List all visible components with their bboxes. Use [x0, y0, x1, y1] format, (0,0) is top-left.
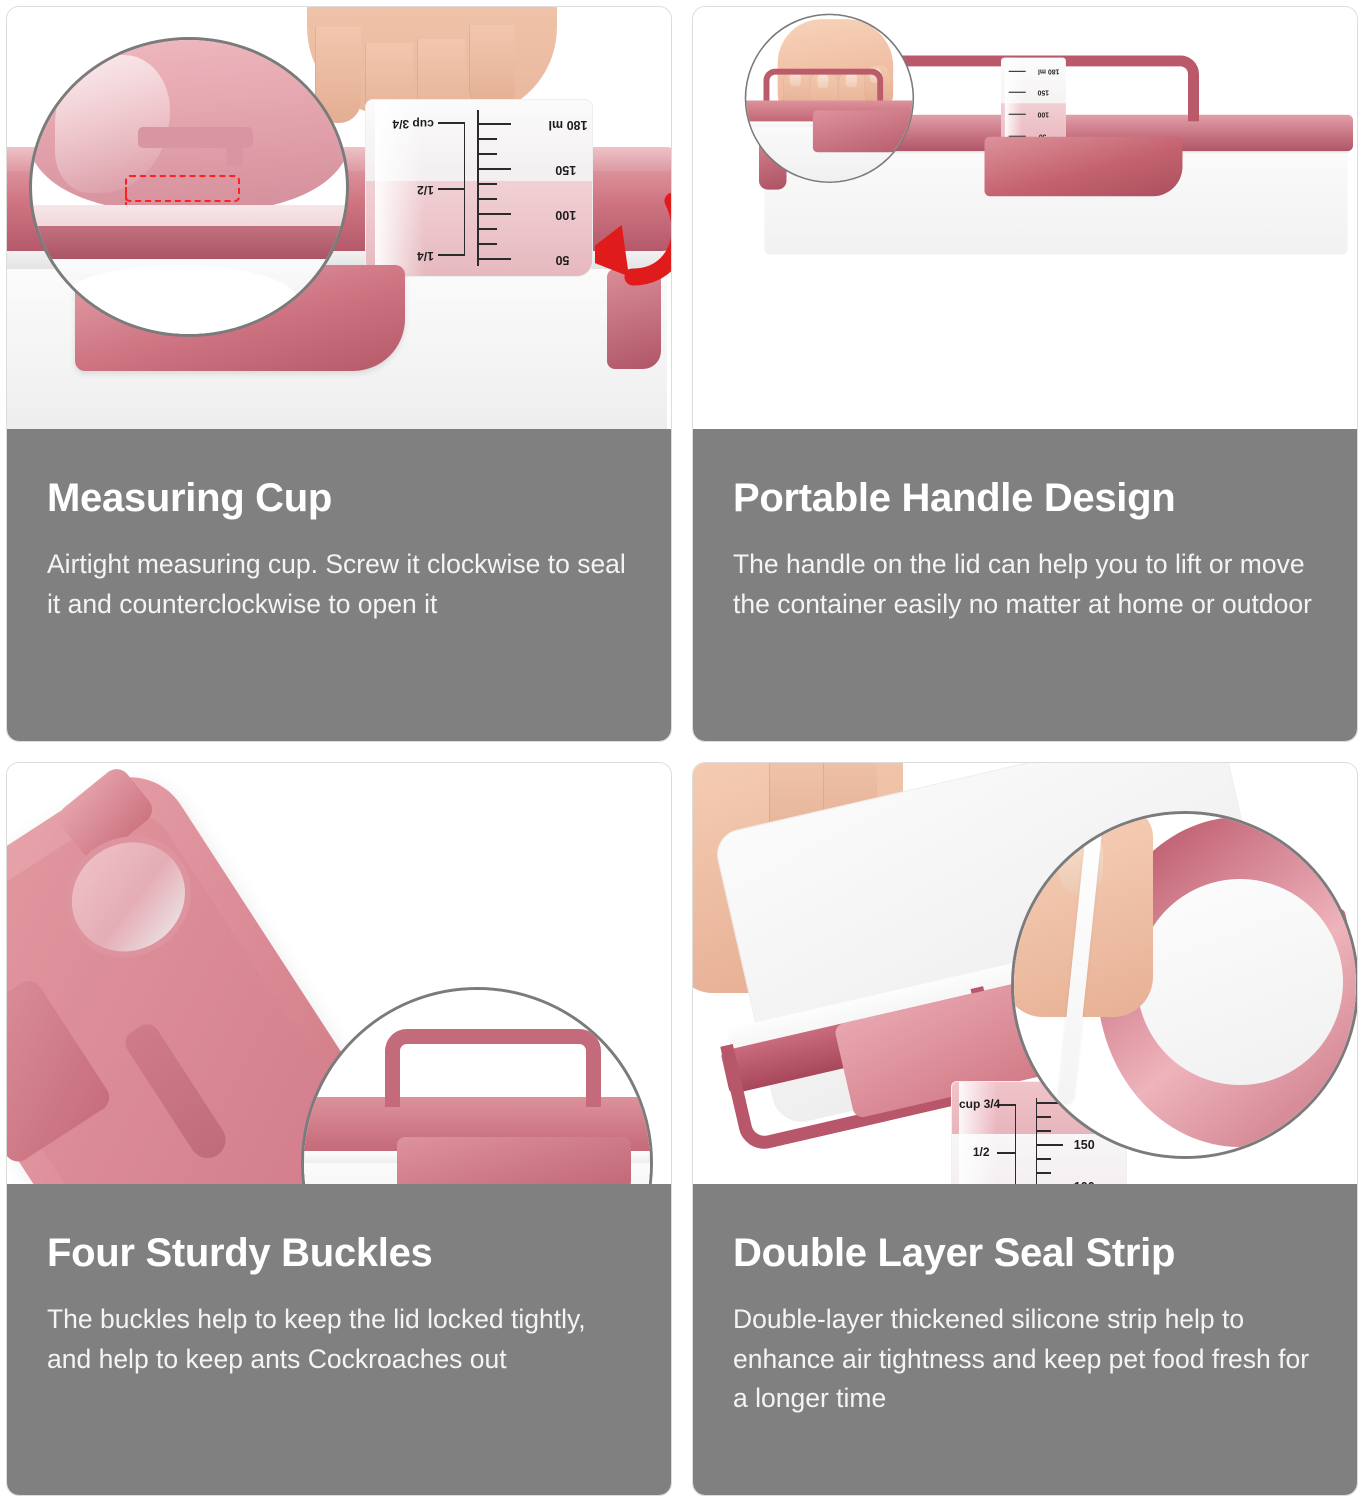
feature-card-measuring-cup: 50 100 150 180 ml 1/4 1/2 cup 3/4 [6, 6, 672, 742]
card-body: Airtight measuring cup. Screw it clockwi… [47, 545, 631, 625]
magnifier-content [301, 987, 653, 1184]
magnifier-content [745, 14, 914, 183]
measuring-cup-illustration: 50 100 150 180 ml 1/4 1/2 cup 3/4 [7, 7, 671, 429]
card-body: The buckles help to keep the lid locked … [47, 1300, 631, 1380]
magnifier-content [29, 37, 349, 337]
cup-fraction-bracket [464, 124, 465, 256]
product-photo-measuring-cup: 50 100 150 180 ml 1/4 1/2 cup 3/4 [7, 7, 671, 429]
product-photo-double-seal-strip: 180 ml 150 100 50 cup 3/4 1/2 1/4 [693, 763, 1357, 1184]
cup-fraction-label: 1/4 [417, 249, 434, 263]
lid-inner-face [1137, 879, 1343, 1085]
buckle-closeup [813, 110, 912, 152]
caption-measuring-cup: Measuring Cup Airtight measuring cup. Sc… [7, 429, 671, 741]
cup-ml-label: 100 [1074, 1180, 1095, 1184]
card-title: Four Sturdy Buckles [47, 1232, 631, 1274]
carry-handle [385, 1029, 601, 1107]
caption-portable-handle: Portable Handle Design The handle on the… [693, 429, 1357, 741]
grid-cell-measuring-cup: 50 100 150 180 ml 1/4 1/2 cup 3/4 [0, 0, 680, 750]
magnifier-seal-strip [1011, 811, 1357, 1159]
card-body: The handle on the lid can help you to li… [733, 545, 1317, 625]
cup-ml-label: 100 [1038, 111, 1049, 119]
cup-fraction-label: 1/2 [973, 1145, 990, 1159]
closed-buckle [397, 1137, 631, 1184]
cup-ml-label: 100 [555, 208, 576, 222]
grid-cell-portable-handle: 50 100 150 180 ml [680, 0, 1362, 750]
caption-double-seal-strip: Double Layer Seal Strip Double-layer thi… [693, 1184, 1357, 1495]
product-photo-four-buckles [7, 763, 671, 1184]
card-title: Measuring Cup [47, 477, 631, 519]
cup-ml-label: 150 [555, 163, 576, 177]
feature-card-four-buckles: Four Sturdy Buckles The buckles help to … [6, 762, 672, 1496]
caption-four-buckles: Four Sturdy Buckles The buckles help to … [7, 1184, 671, 1495]
measuring-cup: 50 100 150 180 ml [1001, 58, 1066, 146]
magnifier-hand-on-handle [745, 14, 914, 183]
feature-grid: 50 100 150 180 ml 1/4 1/2 cup 3/4 [0, 0, 1362, 1500]
cup-fraction-label: 1/2 [417, 183, 434, 197]
buckle-front [985, 137, 1183, 196]
magnifier-content [1011, 811, 1357, 1159]
card-title: Portable Handle Design [733, 477, 1317, 519]
cup-fraction-label: cup 3/4 [959, 1097, 1000, 1111]
cup-scale-inverted: 50 100 150 180 ml 1/4 1/2 cup 3/4 [366, 100, 592, 276]
cup-ml-label: 50 [556, 253, 570, 267]
magnifier-lock-tab [29, 37, 349, 337]
rotation-arrow-icon [595, 193, 671, 293]
feature-card-double-seal-strip: 180 ml 150 100 50 cup 3/4 1/2 1/4 [692, 762, 1358, 1496]
four-buckles-illustration [7, 763, 671, 1184]
grid-cell-double-seal-strip: 180 ml 150 100 50 cup 3/4 1/2 1/4 [680, 750, 1362, 1500]
magnifier-buckle-closeup [301, 987, 653, 1184]
cup-ml-label: 180 ml [549, 118, 588, 132]
cup-ml-label: 180 ml [1038, 68, 1059, 76]
product-photo-portable-handle: 50 100 150 180 ml [693, 7, 1357, 429]
card-body: Double-layer thickened silicone strip he… [733, 1300, 1317, 1419]
feature-card-portable-handle: 50 100 150 180 ml [692, 6, 1358, 742]
cup-scale-inverted: 50 100 150 180 ml [1001, 58, 1066, 146]
grid-cell-four-buckles: Four Sturdy Buckles The buckles help to … [0, 750, 680, 1500]
double-seal-strip-illustration: 180 ml 150 100 50 cup 3/4 1/2 1/4 [693, 763, 1357, 1184]
portable-handle-illustration: 50 100 150 180 ml [693, 7, 1357, 429]
cup-fraction-label: cup 3/4 [392, 117, 433, 131]
cup-ml-label: 150 [1038, 89, 1049, 97]
card-title: Double Layer Seal Strip [733, 1232, 1317, 1274]
measuring-cup: 50 100 150 180 ml 1/4 1/2 cup 3/4 [365, 99, 593, 277]
